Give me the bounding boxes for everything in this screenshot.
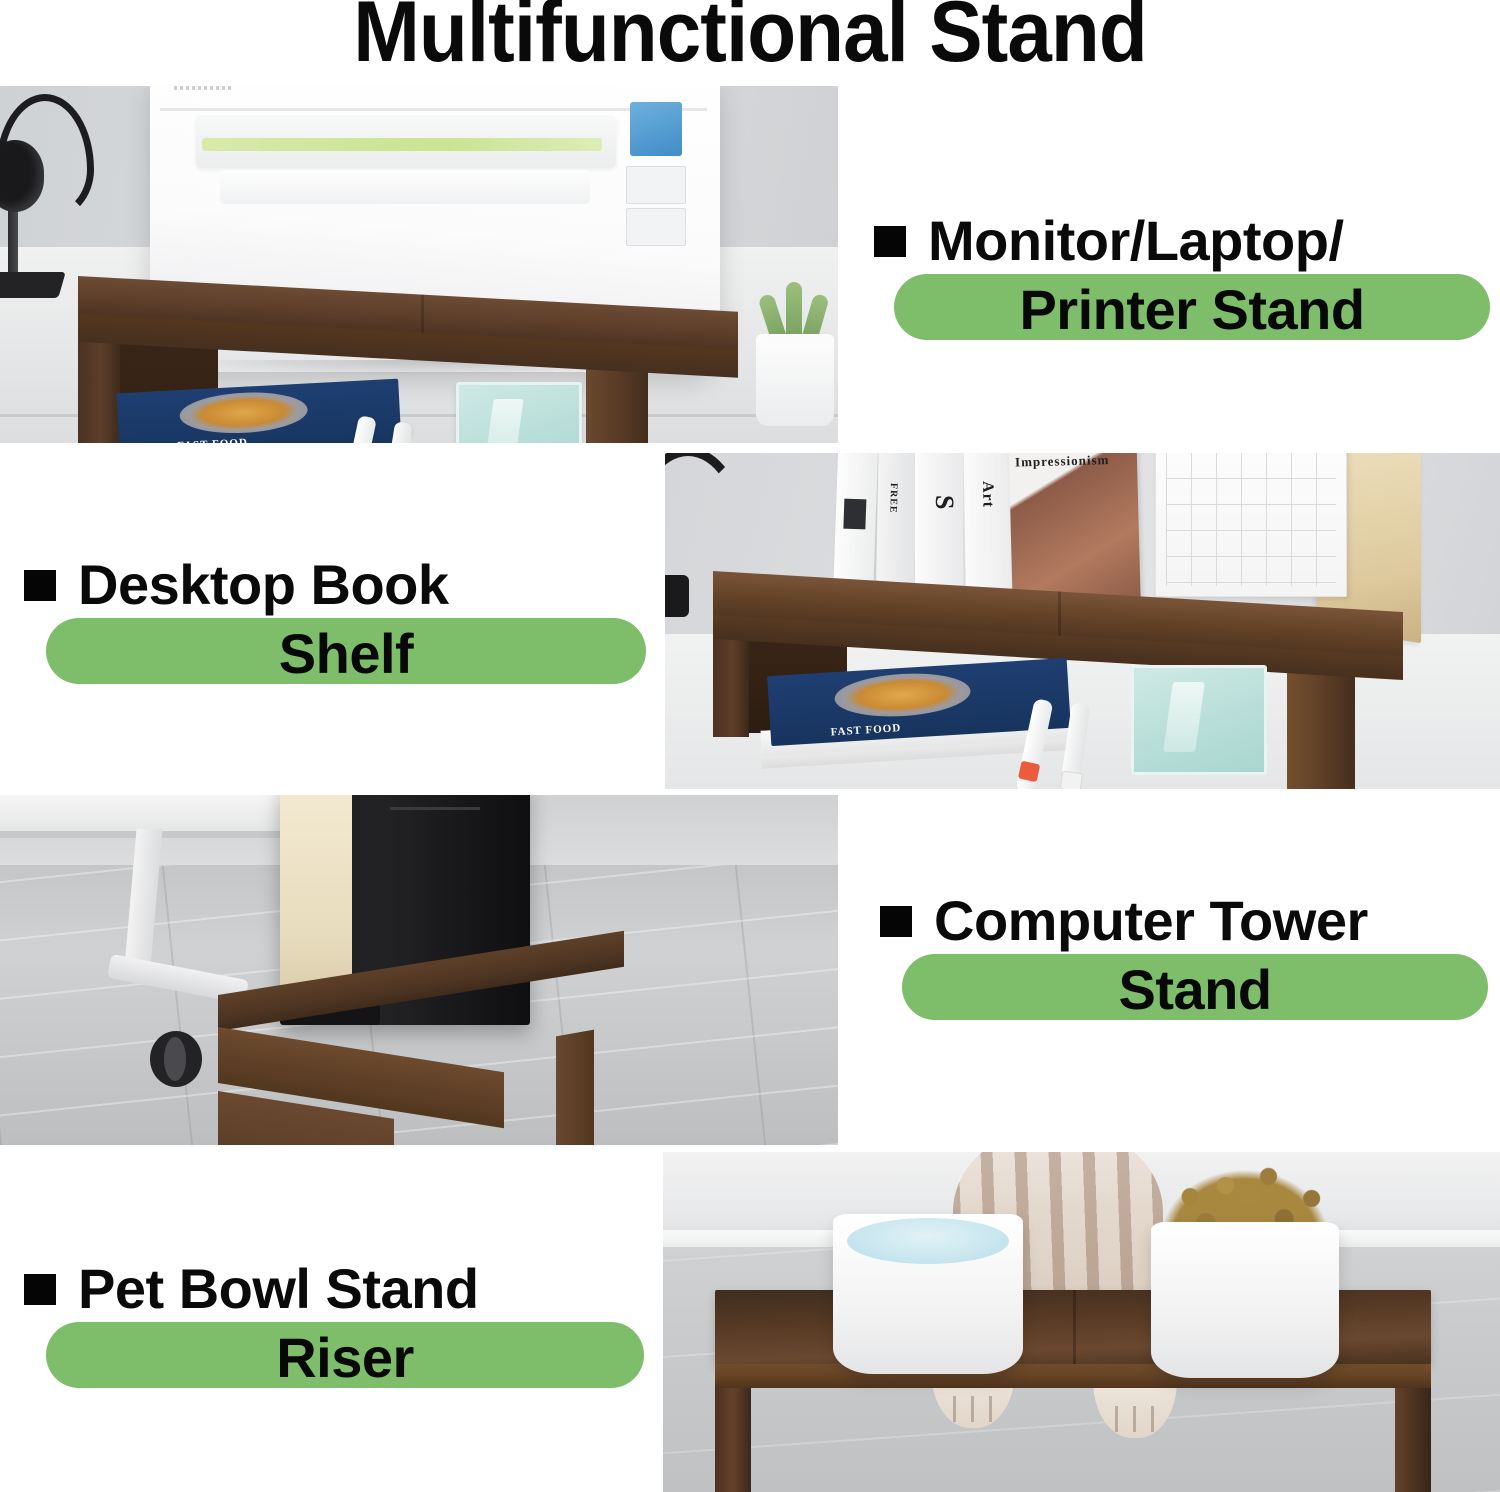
caption-line-2: Printer Stand (1019, 281, 1364, 339)
caption-highlight-pill: Stand (902, 954, 1488, 1020)
caption-line-1: Pet Bowl Stand (78, 1260, 479, 1318)
printer-display (630, 102, 682, 156)
food-bowl (1151, 1222, 1339, 1378)
caption-line-2: Riser (276, 1329, 414, 1387)
caption-highlight-pill: Riser (46, 1322, 644, 1388)
desk-calendar (1155, 453, 1347, 597)
caption-computer-tower: Computer Tower Stand (880, 892, 1490, 1020)
caption-highlight-pill: Shelf (46, 618, 646, 684)
caption-pet-bowl-stand: Pet Bowl Stand Riser (24, 1260, 640, 1388)
water-bowl (833, 1214, 1023, 1374)
bullet-square-icon (874, 226, 906, 257)
bullet-square-icon (24, 1274, 56, 1305)
plant-pot (756, 334, 834, 426)
caption-book-shelf: Desktop Book Shelf (24, 556, 644, 684)
caption-line-2: Shelf (279, 625, 413, 683)
bullet-square-icon (24, 570, 56, 601)
caption-line-1: Monitor/Laptop/ (928, 212, 1344, 270)
mint-storage-tray (456, 382, 582, 443)
photo-pet-bowl-stand (663, 1152, 1500, 1492)
infographic-page: Multifunctional Stand (0, 0, 1500, 1492)
mint-storage-tray (1131, 665, 1267, 775)
caption-line-1: Desktop Book (78, 556, 449, 614)
bullet-square-icon (880, 906, 912, 937)
photo-computer-tower (0, 795, 838, 1145)
caption-line-1: Computer Tower (934, 892, 1368, 950)
photo-printer-stand: FAST FOOD (0, 86, 838, 443)
caption-printer-stand: Monitor/Laptop/ Printer Stand (874, 212, 1490, 340)
caption-line-2: Stand (1118, 961, 1271, 1019)
caster-wheel (150, 1031, 202, 1087)
page-title: Multifunctional Stand (53, 0, 1448, 78)
photo-book-shelf: FREE S Art Impressionism FAST FOOD (665, 453, 1500, 789)
caption-highlight-pill: Printer Stand (894, 274, 1490, 340)
